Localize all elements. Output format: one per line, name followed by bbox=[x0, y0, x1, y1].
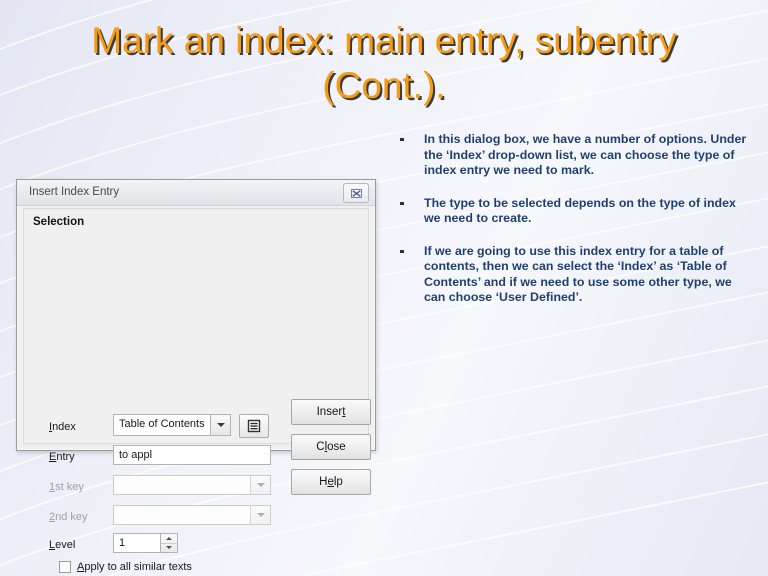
index-combobox-value: Table of Contents bbox=[119, 418, 205, 430]
index-label-rest: ndex bbox=[52, 421, 76, 433]
entry-label: Entry bbox=[49, 451, 75, 463]
chevron-down-icon[interactable] bbox=[250, 506, 270, 524]
level-stepper[interactable] bbox=[161, 533, 178, 553]
apply-to-all-similar-texts-checkbox[interactable]: Apply to all similar texts bbox=[59, 561, 192, 573]
bullet-text: If we are going to use this index entry … bbox=[424, 244, 732, 305]
checkbox-icon[interactable] bbox=[59, 561, 71, 573]
second-key-label-rest: nd key bbox=[55, 511, 87, 523]
bullet-list: In this dialog box, we have a number of … bbox=[392, 132, 748, 323]
index-label: Index bbox=[49, 421, 76, 433]
first-key-combobox[interactable] bbox=[113, 475, 271, 495]
dialog-title: Insert Index Entry bbox=[29, 186, 119, 198]
stepper-up-icon[interactable] bbox=[161, 534, 177, 544]
level-label: Level bbox=[49, 539, 75, 551]
page-title: Mark an index: main entry, subentry (Con… bbox=[40, 18, 728, 108]
level-input[interactable]: 1 bbox=[113, 533, 161, 553]
help-button-label: H bbox=[319, 476, 327, 488]
insert-button-label: Inser bbox=[317, 406, 343, 418]
chevron-down-icon[interactable] bbox=[250, 476, 270, 494]
chevron-down-icon[interactable] bbox=[210, 415, 230, 435]
list-item: In this dialog box, we have a number of … bbox=[392, 132, 748, 179]
help-button[interactable]: Help bbox=[291, 469, 371, 495]
bullet-text: The type to be selected depends on the t… bbox=[424, 196, 736, 226]
index-list-icon[interactable] bbox=[239, 414, 269, 438]
list-item: If we are going to use this index entry … bbox=[392, 244, 748, 306]
checkbox-label-rest: pply to all similar texts bbox=[84, 561, 192, 573]
entry-label-rest: ntry bbox=[56, 451, 74, 463]
entry-input-value: to appl bbox=[119, 449, 152, 461]
bullet-marker-icon bbox=[400, 202, 404, 205]
close-button[interactable]: Close bbox=[291, 434, 371, 460]
second-key-combobox[interactable] bbox=[113, 505, 271, 525]
bullet-marker-icon bbox=[400, 138, 404, 141]
second-key-label: 2nd key bbox=[49, 511, 88, 523]
stepper-down-icon[interactable] bbox=[161, 544, 177, 553]
close-button-label: C bbox=[316, 441, 324, 453]
first-key-label: 1st key bbox=[49, 481, 84, 493]
close-icon[interactable] bbox=[343, 183, 369, 203]
bullet-text: In this dialog box, we have a number of … bbox=[424, 132, 746, 177]
selection-section-label: Selection bbox=[33, 216, 84, 228]
help-button-suffix: lp bbox=[334, 476, 343, 488]
level-label-rest: evel bbox=[55, 539, 75, 551]
first-key-label-rest: st key bbox=[55, 481, 84, 493]
entry-input[interactable]: to appl bbox=[113, 445, 271, 465]
insert-button[interactable]: Insert bbox=[291, 399, 371, 425]
dialog-titlebar[interactable]: Insert Index Entry bbox=[17, 180, 375, 206]
slide-canvas: Mark an index: main entry, subentry (Con… bbox=[0, 0, 768, 576]
level-input-value: 1 bbox=[119, 537, 125, 549]
close-button-suffix: ose bbox=[327, 441, 346, 453]
insert-button-mnemonic: t bbox=[342, 406, 345, 418]
index-combobox[interactable]: Table of Contents bbox=[113, 414, 231, 436]
insert-index-entry-dialog: Insert Index Entry Selection Index Table… bbox=[16, 179, 376, 451]
bullet-marker-icon bbox=[400, 250, 404, 253]
list-item: The type to be selected depends on the t… bbox=[392, 196, 748, 227]
